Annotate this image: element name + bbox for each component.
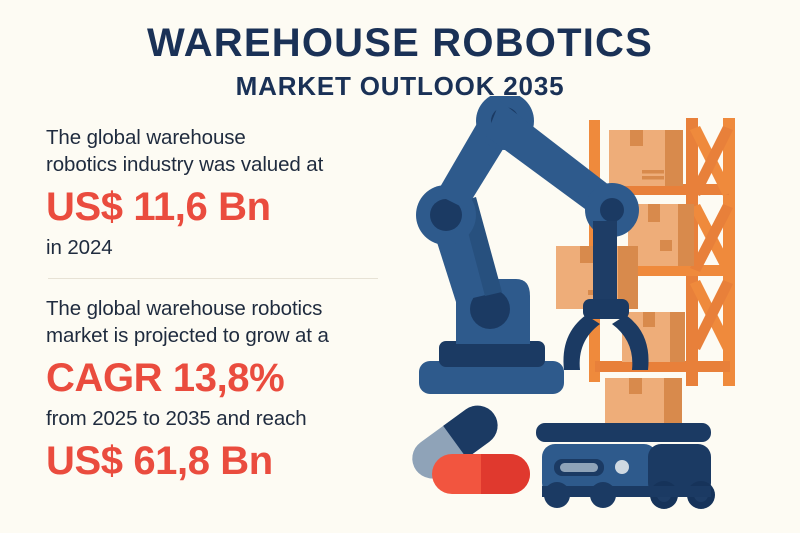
stat-trail-year: in 2024 [46, 234, 402, 261]
page-title: WAREHOUSE ROBOTICS [0, 22, 800, 64]
stat-figure-market-value-2024: US$ 11,6 Bn [46, 184, 402, 230]
stat-block-forecast: The global warehouse robotics market is … [46, 295, 402, 485]
forecast-trail-period: from 2025 to 2035 and reach [46, 405, 402, 432]
cardboard-box-top-shelf [609, 130, 683, 186]
gripper-claw [563, 299, 648, 370]
pharmaceutical-capsules [404, 398, 530, 494]
statistics-column: The global warehouse robotics industry w… [46, 124, 402, 488]
red-capsule [432, 454, 530, 494]
forecast-lead-line-2: market is projected to grow at a [46, 322, 402, 349]
section-divider [48, 278, 378, 279]
header: WAREHOUSE ROBOTICS MARKET OUTLOOK 2035 [0, 22, 800, 101]
cardboard-box-on-agv [605, 378, 682, 424]
robotic-arm [416, 96, 639, 394]
infographic-canvas: WAREHOUSE ROBOTICS MARKET OUTLOOK 2035 T… [0, 0, 800, 533]
stat-figure-market-value-2035: US$ 61,8 Bn [46, 438, 402, 484]
stat-block-current-value: The global warehouse robotics industry w… [46, 124, 402, 262]
stat-lead-line-1: The global warehouse [46, 124, 402, 151]
stat-lead-line-2: robotics industry was valued at [46, 151, 402, 178]
forecast-lead-line-1: The global warehouse robotics [46, 295, 402, 322]
warehouse-illustration [390, 96, 800, 533]
stat-figure-cagr: CAGR 13,8% [46, 355, 402, 401]
automated-guided-vehicle [536, 423, 715, 509]
